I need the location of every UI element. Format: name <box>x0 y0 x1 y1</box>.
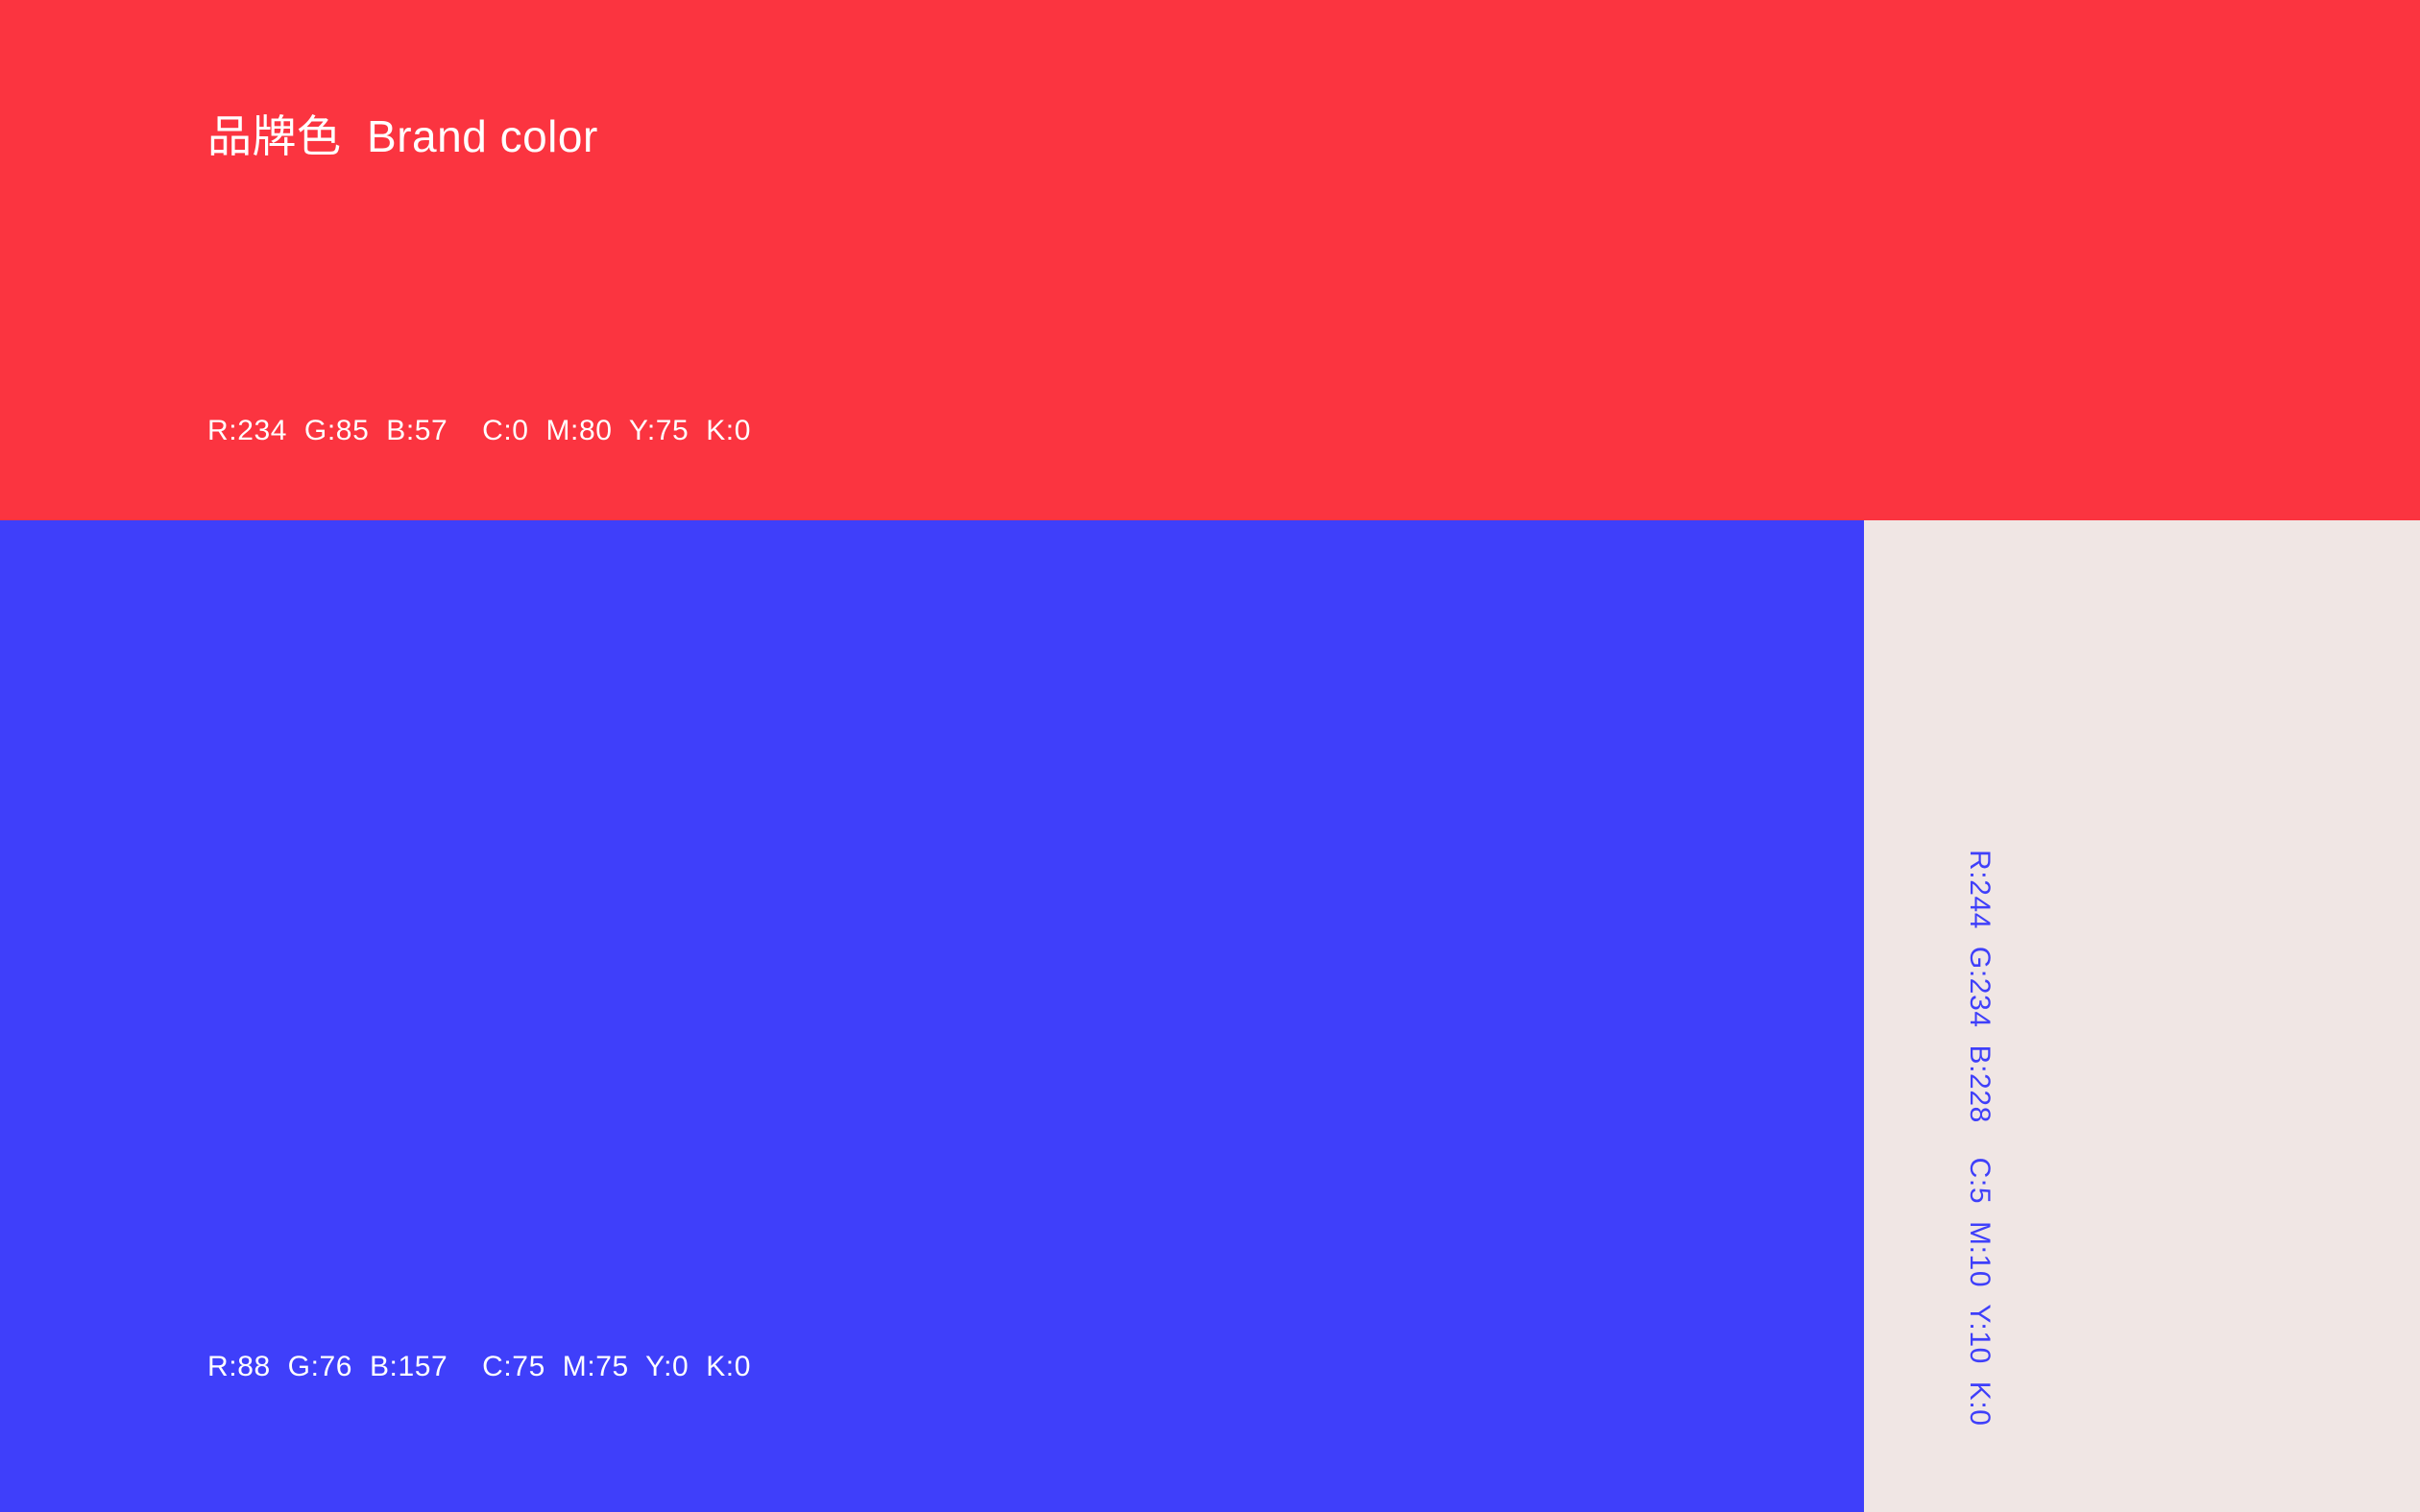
swatch-spec-brand-blue: R:88 G:76 B:157 C:75 M:75 Y:0 K:0 <box>207 1349 751 1385</box>
brand-color-board: 品牌色 Brand color R:234 G:85 B:57 C:0 M:80… <box>0 0 2420 1512</box>
swatch-spec-brand-beige: R:244 G:234 B:228 C:5 M:10 Y:10 K:0 <box>1962 850 1998 1427</box>
page-title: 品牌色 Brand color <box>207 110 598 163</box>
swatch-spec-brand-red: R:234 G:85 B:57 C:0 M:80 Y:75 K:0 <box>207 413 751 449</box>
swatch-panel-brand-beige <box>1864 520 2420 1512</box>
